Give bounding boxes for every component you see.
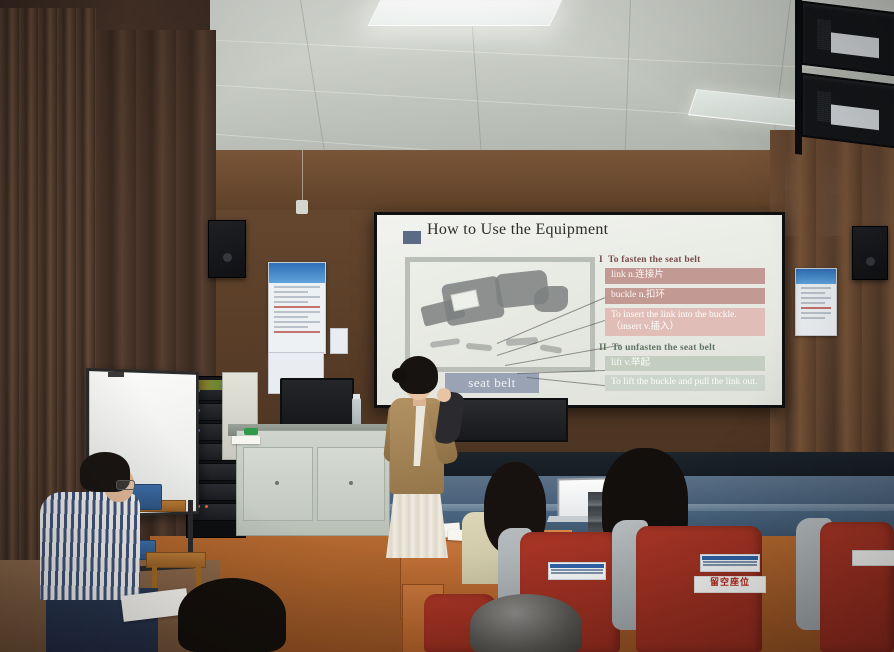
seat-sticker (548, 562, 606, 580)
presenter-hair-bun (392, 368, 407, 383)
back-wall-upper (205, 150, 785, 210)
slide-heading: How to Use the Equipment (427, 221, 608, 239)
slide-section-1-heading: I To fasten the seat belt (599, 255, 765, 265)
student-left-glasses (116, 480, 135, 490)
whiteboard-clip (108, 372, 124, 377)
console-papers (232, 436, 260, 444)
av-console (236, 430, 390, 536)
audience-front-gray-hair (470, 594, 582, 652)
wall-poster-right (795, 268, 837, 336)
slide-photo-caption: seat belt (445, 373, 539, 393)
ceiling-sensor (296, 200, 308, 214)
bottle-cap (353, 394, 360, 399)
classroom-scene: How to Use the Equipment seat belt (0, 0, 894, 652)
slide-term-link: link n.连接片 (605, 268, 765, 284)
ceiling-light (368, 0, 563, 26)
wall-poster-left (268, 262, 326, 354)
slide-section-2-number: II (599, 343, 607, 353)
audience-foreground-hair (178, 578, 286, 652)
wall-speaker-right (852, 226, 888, 280)
control-monitor (280, 378, 354, 430)
equipment-rack-upper (795, 0, 894, 168)
seat-sticker (852, 550, 894, 566)
wall-speaker-left (208, 220, 246, 278)
seat-sticker (700, 554, 760, 572)
slide-text-column: I To fasten the seat belt link n.连接片 buc… (595, 255, 765, 395)
wall-notice-left-small (330, 328, 348, 354)
slide-section-2-heading: II To unfasten the seat belt (599, 343, 765, 353)
slide-section-1-title: To fasten the seat belt (608, 255, 700, 265)
reserved-seat-label: 留空座位 (694, 576, 766, 593)
slide-section-1-number: I (599, 255, 603, 265)
slide-term-lift: lift v.举起 (605, 356, 765, 372)
presenter-skirt (386, 486, 448, 558)
slide-step-unfasten: To lift the buckle and pull the link out… (605, 375, 765, 391)
ceiling-cable (302, 150, 303, 202)
slide-bullet-icon (403, 231, 421, 244)
auditorium-seat[interactable] (820, 522, 894, 652)
student-left-shirt (40, 492, 140, 600)
presenter-hand (437, 388, 451, 402)
slide-step-insert: To insert the link into the buckle.（inse… (605, 308, 765, 336)
interactive-display (452, 398, 568, 442)
green-object (244, 428, 258, 435)
slide-term-buckle: buckle n.扣环 (605, 288, 765, 304)
slide-section-2-title: To unfasten the seat belt (612, 343, 715, 353)
